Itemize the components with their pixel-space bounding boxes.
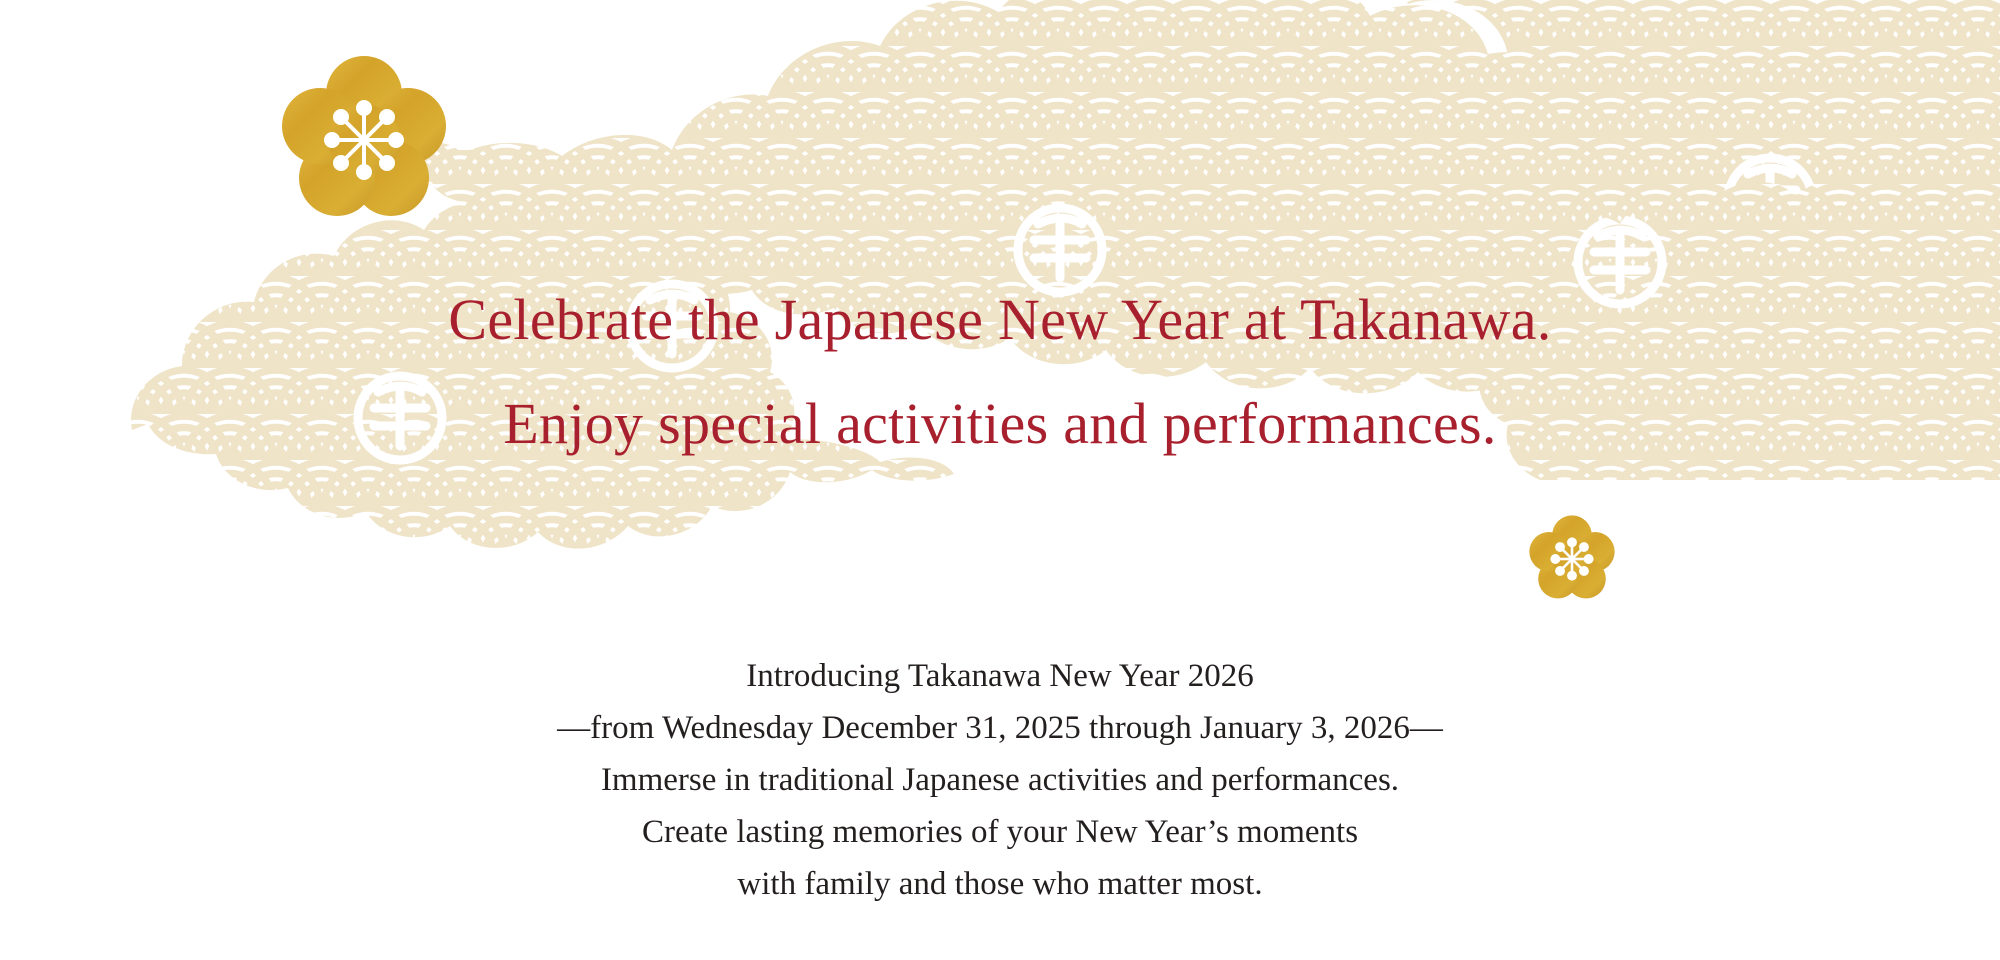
lede-line-5: with family and those who matter most. <box>0 858 2000 910</box>
plum-blossom-icon-small <box>1529 515 1614 598</box>
plum-blossom-icon-large <box>282 56 446 216</box>
lede-line-4: Create lasting memories of your New Year… <box>0 806 2000 858</box>
lede-line-2: —from Wednesday December 31, 2025 throug… <box>0 702 2000 754</box>
headline-line-2: Enjoy special activities and performance… <box>0 372 2000 476</box>
lede-line-3: Immerse in traditional Japanese activiti… <box>0 754 2000 806</box>
hero-headline: Celebrate the Japanese New Year at Takan… <box>0 268 2000 476</box>
hero-lede-paragraph: Introducing Takanawa New Year 2026 —from… <box>0 650 2000 910</box>
new-year-hero-banner: Celebrate the Japanese New Year at Takan… <box>0 0 2000 960</box>
headline-line-1: Celebrate the Japanese New Year at Takan… <box>0 268 2000 372</box>
lede-line-1: Introducing Takanawa New Year 2026 <box>0 650 2000 702</box>
